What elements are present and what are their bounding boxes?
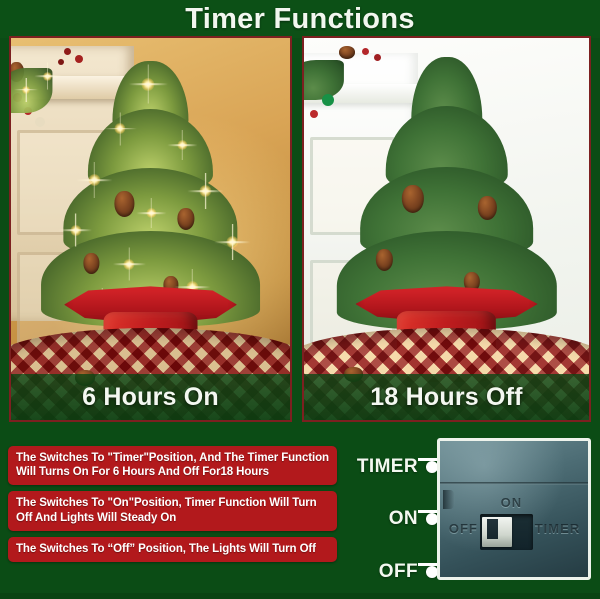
battery-box-body: ON OFF TIMER [440, 441, 588, 577]
pinecone [375, 249, 392, 271]
infographic-page: Timer Functions [0, 0, 600, 599]
note-timer: The Switches To "Timer"Position, And The… [8, 446, 337, 485]
caption-text: 6 Hours On [82, 383, 219, 412]
switch-instructions-section: The Switches To "Timer"Position, And The… [0, 424, 600, 599]
tree-lit-photo: 6 Hours On [9, 36, 292, 422]
note-timer-text: The Switches To "Timer"Position, And The… [16, 451, 330, 479]
note-on: The Switches To "On"Position, Timer Func… [8, 491, 337, 530]
note-off: The Switches To “Off” Position, The Ligh… [8, 537, 337, 562]
box-seam [440, 482, 588, 485]
light-spark [200, 185, 212, 197]
tree-unlit-photo: 18 Hours Off [302, 36, 591, 422]
caption-text: 18 Hours Off [370, 383, 522, 412]
embossed-timer-label: TIMER [535, 521, 580, 536]
note-off-text: The Switches To “Off” Position, The Ligh… [16, 542, 330, 556]
switch-closeup-photo: ON OFF TIMER [437, 438, 591, 580]
legend-timer-label: TIMER [357, 456, 418, 478]
box-notch [443, 490, 455, 509]
switch-well [480, 514, 533, 549]
embossed-off-label: OFF [449, 521, 478, 536]
lit-scene: 6 Hours On [11, 38, 290, 420]
light-spark [124, 259, 135, 270]
light-spark [142, 78, 155, 91]
caption-band: 18 Hours Off [304, 374, 589, 420]
pinecone [84, 253, 100, 274]
caption-band: 6 Hours On [11, 374, 290, 420]
photo-comparison-row: 6 Hours On [0, 36, 600, 422]
note-on-text: The Switches To "On"Position, Timer Func… [16, 496, 330, 524]
header-bar: Timer Functions [0, 0, 600, 38]
berry [64, 48, 71, 55]
ornament-green [322, 94, 334, 106]
light-spark [115, 123, 126, 134]
legend-on-label: ON [389, 508, 418, 530]
switch-grip [487, 519, 497, 539]
bottom-edge [0, 593, 600, 599]
light-spark [226, 236, 238, 248]
instruction-notes: The Switches To "Timer"Position, And The… [8, 446, 337, 568]
pinecone [402, 185, 424, 213]
page-title: Timer Functions [185, 4, 415, 34]
legend-off-label: OFF [379, 561, 418, 583]
daylight-scene: 18 Hours Off [304, 38, 589, 420]
berry [310, 110, 318, 118]
berry [362, 48, 369, 55]
embossed-on-label: ON [501, 495, 523, 510]
pinecone [115, 191, 135, 217]
switch-slider[interactable] [482, 517, 512, 547]
